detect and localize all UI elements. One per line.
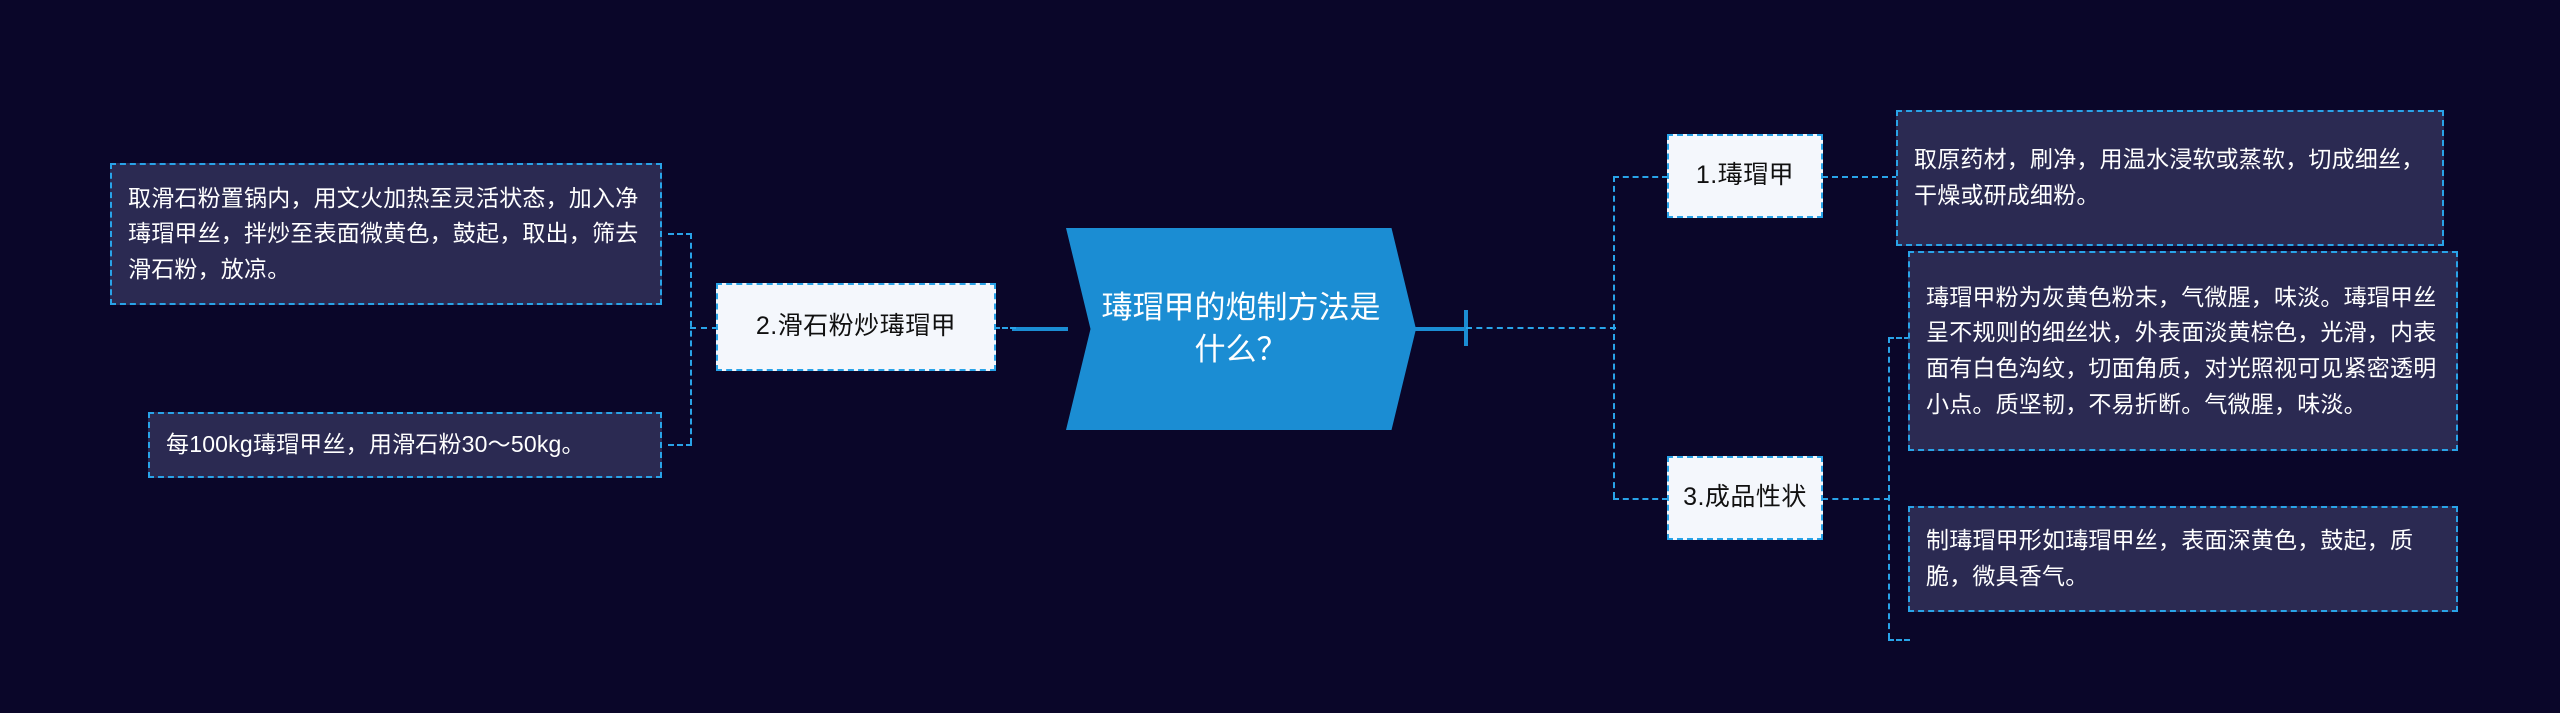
- connector-branch-1-leaf-stem: [1822, 176, 1898, 178]
- branch-label-1-text: 1.瑇瑁甲: [1696, 160, 1794, 191]
- connector-branch-3-stem: [1613, 498, 1668, 500]
- center-node-label: 瑇瑁甲的炮制方法是什么？: [1092, 287, 1390, 371]
- branch-label-2-text: 2.滑石粉炒瑇瑁甲: [756, 311, 956, 342]
- center-node[interactable]: 瑇瑁甲的炮制方法是什么？: [1066, 228, 1416, 430]
- connector-branch-2-stem: [994, 327, 1016, 329]
- branch-label-3[interactable]: 3.成品性状: [1667, 456, 1823, 540]
- branch-label-1[interactable]: 1.瑇瑁甲: [1667, 134, 1823, 218]
- connector-branch-3-leaf-stem: [1822, 498, 1890, 500]
- leaf-box-1-1-text: 取原药材，刷净，用温水浸软或蒸软，切成细丝，干燥或研成细粉。: [1914, 142, 2426, 213]
- leaf-box-3-2-text: 制瑇瑁甲形如瑇瑁甲丝，表面深黄色，鼓起，质脆，微具香气。: [1926, 523, 2440, 594]
- connector-branch-1-stem: [1613, 176, 1668, 178]
- connector-leaf-3-2-stem: [1888, 639, 1910, 641]
- connector-right-spine-tie: [1466, 327, 1616, 329]
- connector-leaf-2-2-stem: [668, 444, 692, 446]
- leaf-box-3-1[interactable]: 瑇瑁甲粉为灰黄色粉末，气微腥，味淡。瑇瑁甲丝呈不规则的细丝状，外表面淡黄棕色，光…: [1908, 251, 2458, 451]
- leaf-box-2-1-text: 取滑石粉置锅内，用文火加热至灵活状态，加入净瑇瑁甲丝，拌炒至表面微黄色，鼓起，取…: [128, 181, 644, 288]
- leaf-box-3-2[interactable]: 制瑇瑁甲形如瑇瑁甲丝，表面深黄色，鼓起，质脆，微具香气。: [1908, 506, 2458, 612]
- branch-label-3-text: 3.成品性状: [1683, 482, 1807, 513]
- leaf-box-2-2-text: 每100kg瑇瑁甲丝，用滑石粉30～50kg。: [166, 427, 644, 463]
- connector-center-left-stem: [1012, 327, 1068, 331]
- connector-branch-2-leaf-stem: [690, 327, 718, 329]
- leaf-box-2-2[interactable]: 每100kg瑇瑁甲丝，用滑石粉30～50kg。: [148, 412, 662, 478]
- mindmap-canvas: 瑇瑁甲的炮制方法是什么？ 1.瑇瑁甲 2.滑石粉炒瑇瑁甲 3.成品性状 取原药材…: [0, 0, 2560, 713]
- connector-center-right-stem: [1414, 327, 1468, 331]
- connector-branch-3-leaf-spine: [1888, 337, 1890, 639]
- connector-leaf-3-1-stem: [1888, 337, 1910, 339]
- leaf-box-1-1[interactable]: 取原药材，刷净，用温水浸软或蒸软，切成细丝，干燥或研成细粉。: [1896, 110, 2444, 246]
- connector-leaf-2-1-stem: [668, 233, 692, 235]
- connector-branch-2-leaf-spine: [690, 233, 692, 444]
- connector-right-spine: [1613, 176, 1615, 498]
- leaf-box-2-1[interactable]: 取滑石粉置锅内，用文火加热至灵活状态，加入净瑇瑁甲丝，拌炒至表面微黄色，鼓起，取…: [110, 163, 662, 305]
- branch-label-2[interactable]: 2.滑石粉炒瑇瑁甲: [716, 283, 996, 371]
- leaf-box-3-1-text: 瑇瑁甲粉为灰黄色粉末，气微腥，味淡。瑇瑁甲丝呈不规则的细丝状，外表面淡黄棕色，光…: [1926, 280, 2440, 423]
